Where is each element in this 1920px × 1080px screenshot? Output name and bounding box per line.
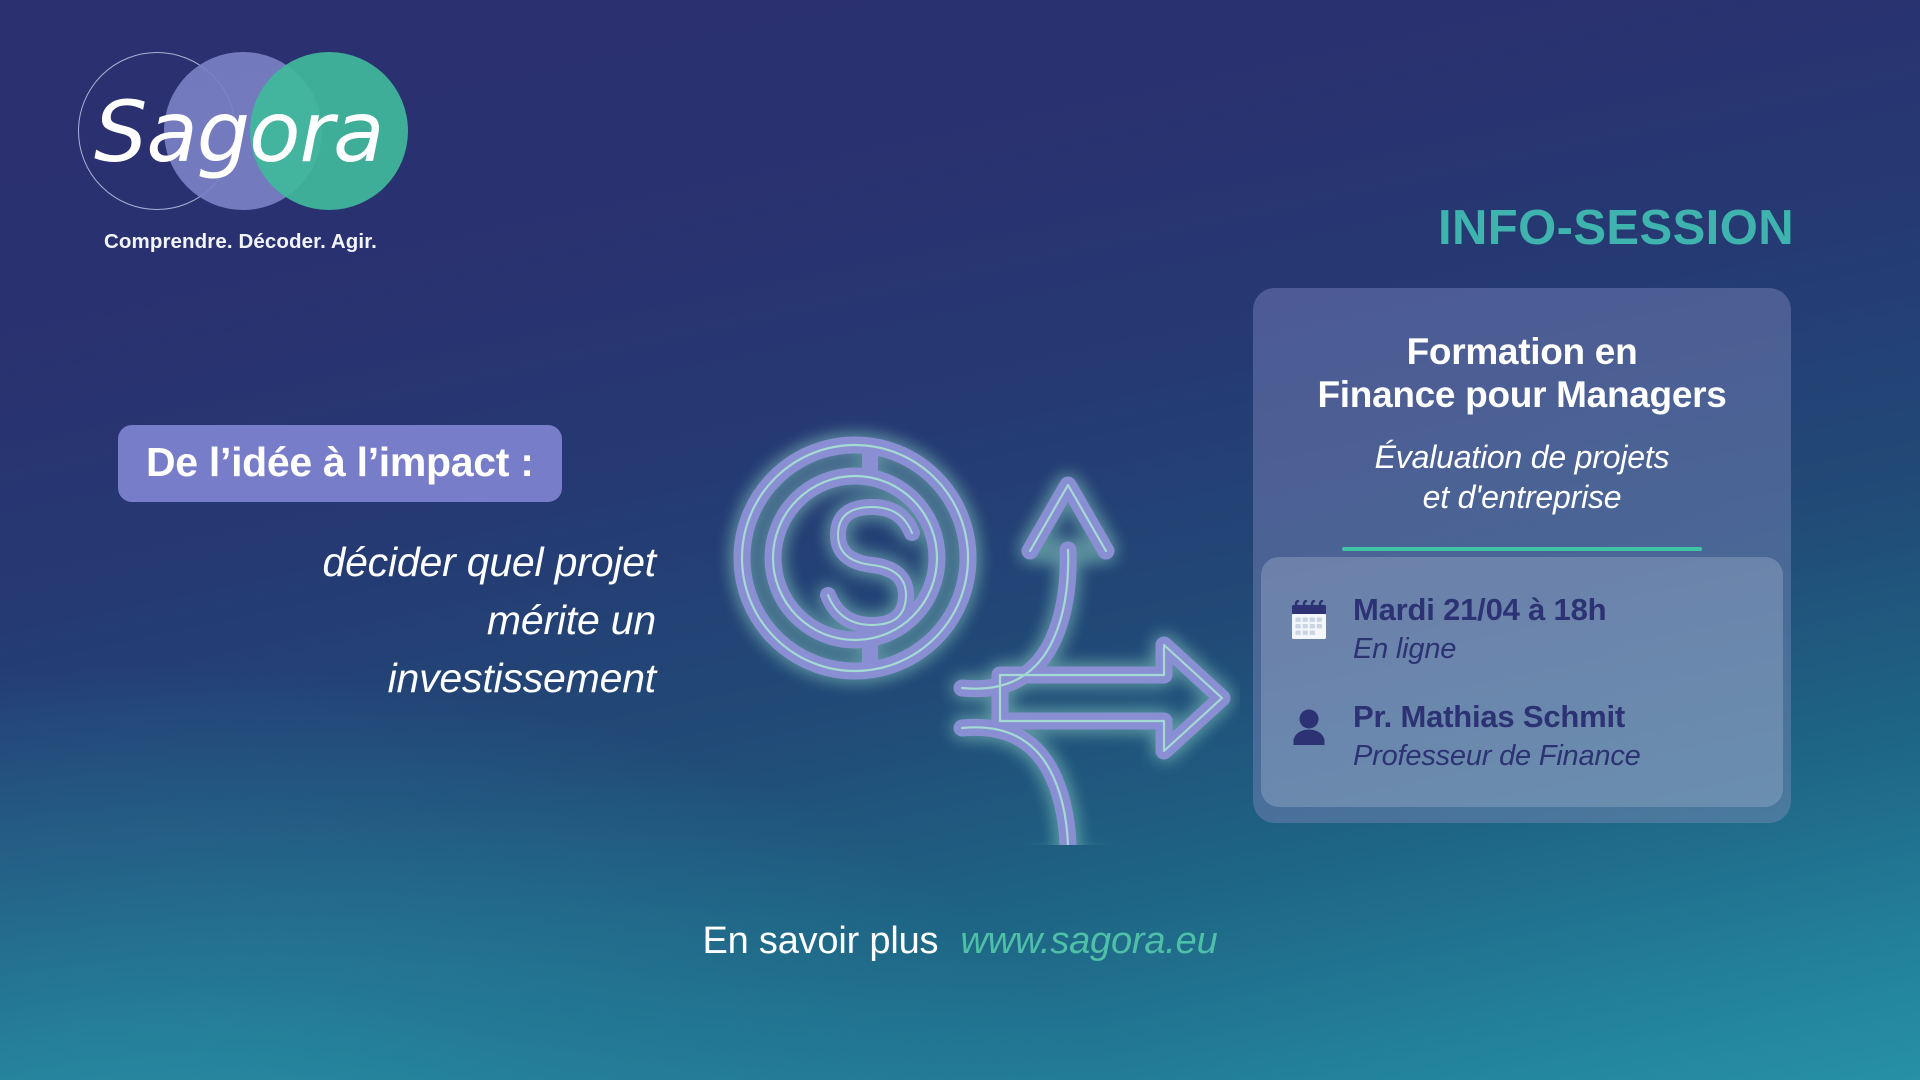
event-title-line-1: Formation en <box>1279 330 1765 373</box>
event-title: Formation en Finance pour Managers <box>1279 330 1765 417</box>
logo-wordmark: Sagora <box>94 90 384 174</box>
event-card: Formation en Finance pour Managers Évalu… <box>1253 288 1791 823</box>
detail-text-date: Mardi 21/04 à 18h En ligne <box>1353 593 1757 666</box>
detail-text-speaker: Pr. Mathias Schmit Professeur de Finance <box>1353 700 1757 773</box>
footer-url[interactable]: www.sagora.eu <box>960 920 1217 962</box>
card-divider <box>1342 547 1702 551</box>
event-location: En ligne <box>1353 633 1757 666</box>
speaker-name: Pr. Mathias Schmit <box>1353 700 1757 735</box>
footer: En savoir pluswww.sagora.eu <box>0 920 1920 963</box>
subheadline-line-3: investissement <box>118 649 656 707</box>
subheadline: décider quel projet mérite un investisse… <box>118 533 656 708</box>
person-icon <box>1287 700 1331 750</box>
promotional-poster: Sagora Comprendre. Décoder. Agir. De l’i… <box>0 0 1920 1080</box>
dollar-coin-with-three-diverging-arrows-icon <box>700 285 1240 845</box>
eyebrow-info-session: INFO-SESSION <box>1438 200 1794 256</box>
subheadline-line-2: mérite un <box>118 591 656 649</box>
footer-label: En savoir plus <box>702 920 938 962</box>
detail-row-speaker: Pr. Mathias Schmit Professeur de Finance <box>1287 700 1757 773</box>
three-overlapping-circles-logo-icon: Sagora <box>78 52 368 212</box>
detail-row-date: Mardi 21/04 à 18h En ligne <box>1287 593 1757 666</box>
event-date: Mardi 21/04 à 18h <box>1353 593 1757 628</box>
subheadline-line-1: décider quel projet <box>118 533 656 591</box>
event-title-line-2: Finance pour Managers <box>1279 373 1765 416</box>
headline-badge-text: De l’idée à l’impact : <box>146 442 534 483</box>
event-subtitle-line-1: Évaluation de projets <box>1279 437 1765 477</box>
logo-tagline: Comprendre. Décoder. Agir. <box>104 230 377 254</box>
brand-logo: Sagora Comprendre. Décoder. Agir. <box>78 52 438 267</box>
speaker-role: Professeur de Finance <box>1353 740 1757 773</box>
event-subtitle: Évaluation de projets et d'entreprise <box>1279 437 1765 518</box>
event-subtitle-line-2: et d'entreprise <box>1279 477 1765 517</box>
event-details-panel: Mardi 21/04 à 18h En ligne Pr. Mathias S… <box>1261 557 1783 807</box>
headline-badge: De l’idée à l’impact : <box>118 425 562 502</box>
calendar-icon <box>1287 593 1331 643</box>
event-card-header: Formation en Finance pour Managers Évalu… <box>1253 288 1791 557</box>
